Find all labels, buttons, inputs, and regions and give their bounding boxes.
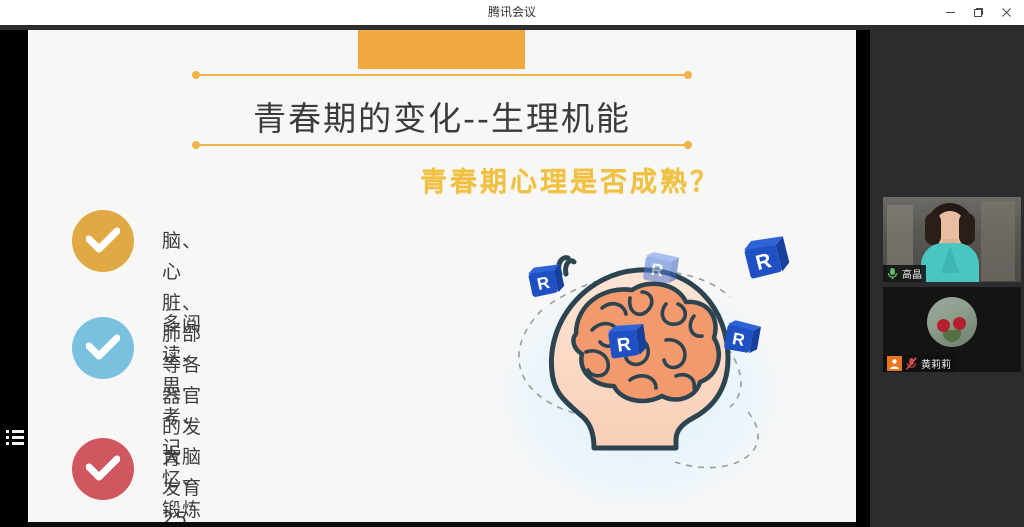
minimize-button[interactable] [936,0,964,25]
slide-title: 青春期的变化--生理机能 [28,92,856,140]
user-avatar-icon [887,356,902,371]
participant-label-2: 黄莉莉 [883,355,955,372]
meeting-shell: 青春期的变化--生理机能 青春期心理是否成熟？ 脑、心脏、肺部等各器官的发育 [0,25,1024,527]
check-icon [72,210,134,272]
close-button[interactable] [992,0,1020,25]
participant-name-1: 高晶 [902,266,922,281]
participant-video-image [919,203,981,282]
video-tile-2[interactable]: 黄莉莉 [883,287,1021,372]
participant-name-2: 黄莉莉 [921,356,951,371]
svg-text:R: R [650,260,665,281]
video-tile-1[interactable]: 高晶 [883,197,1021,282]
avatar [927,297,977,347]
video-panel: 高晶 [870,25,1024,527]
head-brain-illustration: R R R [480,212,810,512]
mic-off-icon [906,357,917,370]
slide-right-gap [856,30,870,527]
title-orange-block [358,30,525,69]
left-rail [0,30,28,527]
mic-on-icon [887,267,898,280]
slide-subtitle: 青春期心理是否成熟？ [420,160,760,199]
check-icon [72,438,134,500]
title-bar: 腾讯会议 [0,0,1024,26]
tencent-meeting-window: 腾讯会议 [0,0,1024,527]
window-title: 腾讯会议 [0,0,1024,25]
shared-slide: 青春期的变化--生理机能 青春期心理是否成熟？ 脑、心脏、肺部等各器官的发育 [28,30,856,522]
list-menu-icon[interactable] [6,430,24,446]
check-icon [72,317,134,379]
window-controls [936,0,1020,25]
maximize-restore-button[interactable] [964,0,992,25]
participant-label-1: 高晶 [883,265,926,282]
bullet-text-3: 大脑发育25岁才成熟，保护大脑， 禁烟慎酒，慎重决定 [162,442,202,522]
